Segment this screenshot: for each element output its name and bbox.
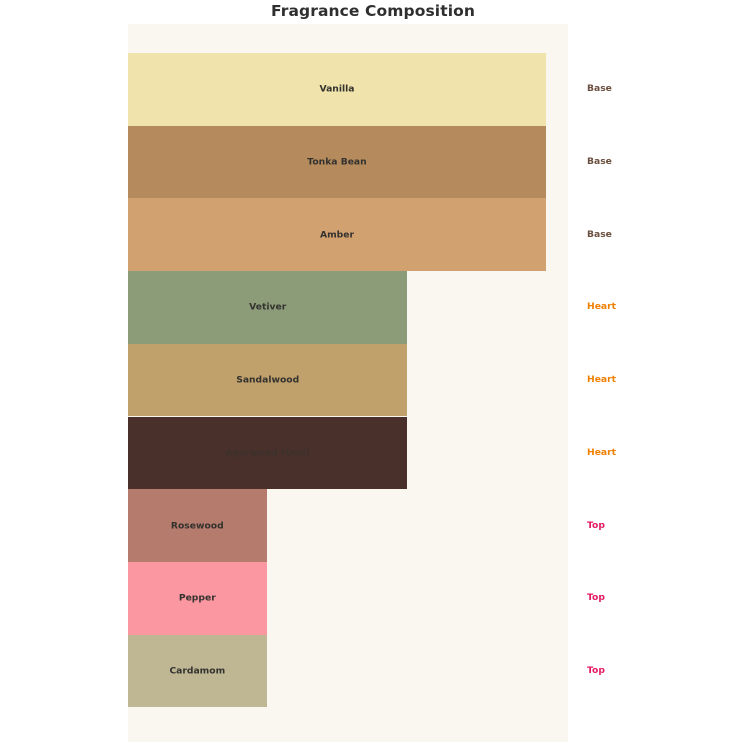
bar-label: Sandalwood (128, 375, 407, 386)
category-label-base: Base (587, 156, 612, 167)
bar-row: Rosewood (128, 489, 568, 562)
chart-title: Fragrance Composition (0, 2, 746, 20)
bar-label: Agarwood (Oud) (128, 447, 407, 458)
bar-label: Cardamom (128, 665, 267, 676)
category-label-heart: Heart (587, 447, 616, 458)
category-label-heart: Heart (587, 301, 616, 312)
category-label-top: Top (587, 592, 605, 603)
bar-label: Tonka Bean (128, 157, 546, 168)
bar-row: Tonka Bean (128, 126, 568, 199)
bar-label: Amber (128, 229, 546, 240)
bar-label: Pepper (128, 593, 267, 604)
bar-row: Agarwood (Oud) (128, 417, 568, 490)
bar-row: Vetiver (128, 271, 568, 344)
bar-label: Vetiver (128, 302, 407, 313)
bar-label: Rosewood (128, 520, 267, 531)
category-label-base: Base (587, 229, 612, 240)
bar-row: Pepper (128, 562, 568, 635)
bar-row: Sandalwood (128, 344, 568, 417)
bar-label: Vanilla (128, 84, 546, 95)
category-label-top: Top (587, 520, 605, 531)
category-label-top: Top (587, 665, 605, 676)
plot-area: VanillaTonka BeanAmberVetiverSandalwoodA… (128, 24, 568, 742)
category-label-heart: Heart (587, 374, 616, 385)
figure: Fragrance Composition VanillaTonka BeanA… (0, 0, 746, 746)
bar-row: Amber (128, 198, 568, 271)
category-label-base: Base (587, 83, 612, 94)
bar-row: Cardamom (128, 635, 568, 708)
bar-row: Vanilla (128, 53, 568, 126)
